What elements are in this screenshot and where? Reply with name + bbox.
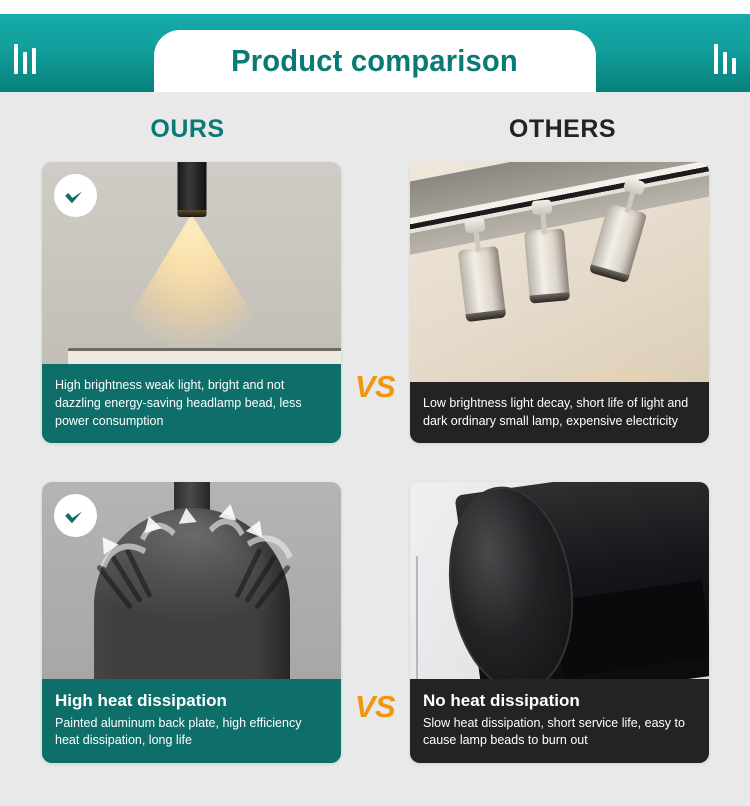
caption-title: High heat dissipation <box>55 690 328 711</box>
bar-chart-decoration-left-icon <box>14 36 36 74</box>
downlight-lens-shape <box>177 210 206 217</box>
spotlight-shape <box>458 246 506 322</box>
spotlight-tube-shape <box>524 228 570 303</box>
comparison-card-ours-row1[interactable]: High brightness weak light, bright and n… <box>42 162 341 443</box>
deco-bar <box>732 58 736 74</box>
check-badge-icon <box>54 494 97 537</box>
heat-sink-airflow-photo: High heat dissipation Painted aluminum b… <box>42 482 341 763</box>
vs-badge-row2: VS <box>345 689 405 725</box>
caption-title: No heat dissipation <box>423 690 696 711</box>
comparison-card-others-row1[interactable]: Low brightness light decay, short life o… <box>410 162 709 443</box>
track-spotlights-photo: Low brightness light decay, short life o… <box>410 162 709 443</box>
vs-badge-row1: VS <box>345 369 405 405</box>
caption-text: Slow heat dissipation, short service lif… <box>423 715 696 751</box>
black-lamp-body-photo: No heat dissipation Slow heat dissipatio… <box>410 482 709 763</box>
spotlight-lens-shape <box>466 309 507 322</box>
spotlight-lens-shape <box>589 264 630 283</box>
bar-chart-decoration-right-icon <box>714 36 736 74</box>
ceiling-downlight-glow-photo: High brightness weak light, bright and n… <box>42 162 341 443</box>
comparison-card-others-row2[interactable]: No heat dissipation Slow heat dissipatio… <box>410 482 709 763</box>
title-plate: Product comparison <box>154 30 596 92</box>
column-heading-others: OTHERS <box>375 115 750 144</box>
spotlight-lens-shape <box>530 292 571 303</box>
background-edge-line-shape <box>416 556 418 692</box>
comparison-stage: OURS OTHERS High brightness weak light, … <box>0 92 750 806</box>
airflow-arrow-icon <box>177 507 196 524</box>
check-badge-icon <box>54 174 97 217</box>
spotlight-shape <box>524 228 570 303</box>
spotlight-tube-shape <box>458 246 506 322</box>
downlight-body-shape <box>177 162 206 216</box>
comparison-card-ours-row2[interactable]: High heat dissipation Painted aluminum b… <box>42 482 341 763</box>
card-caption-ours-row2: High heat dissipation Painted aluminum b… <box>42 679 341 763</box>
caption-text: Painted aluminum back plate, high effici… <box>55 715 328 751</box>
caption-text: High brightness weak light, bright and n… <box>55 376 328 430</box>
deco-bar <box>714 44 718 74</box>
card-caption-others-row2: No heat dissipation Slow heat dissipatio… <box>410 679 709 763</box>
card-caption-others-row1: Low brightness light decay, short life o… <box>410 382 709 443</box>
page-title: Product comparison <box>232 43 519 79</box>
caption-text: Low brightness light decay, short life o… <box>423 394 696 430</box>
deco-bar <box>14 44 18 74</box>
deco-bar <box>723 52 727 74</box>
deco-bar <box>32 48 36 74</box>
card-caption-ours-row1: High brightness weak light, bright and n… <box>42 364 341 443</box>
deco-bar <box>23 52 27 74</box>
column-headings: OURS OTHERS <box>0 115 750 144</box>
column-heading-ours: OURS <box>0 115 375 144</box>
